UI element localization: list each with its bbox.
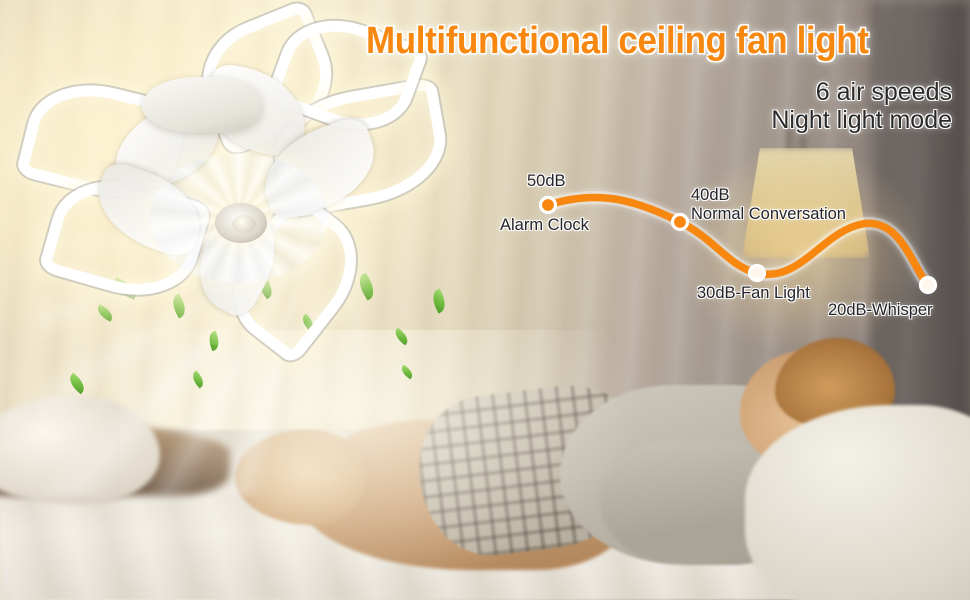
page-title: Multifunctional ceiling fan light [366, 20, 869, 63]
chart-label-caption-alarm-clock: Alarm Clock [500, 216, 589, 235]
product-marketing-image: Multifunctional ceiling fan light 6 air … [0, 0, 970, 600]
subtitle-line-1: 6 air speeds [816, 78, 952, 107]
ceiling-fan-light-fixture [10, 25, 430, 310]
chart-label-caption-fan-light: 30dB-Fan Light [697, 284, 810, 303]
fan-hub-cap [232, 215, 256, 233]
chart-label-caption-whisper: 20dB-Whisper [828, 301, 933, 320]
chart-label-value-alarm-clock: 50dB [527, 172, 566, 191]
subtitle-line-2: Night light mode [771, 106, 952, 135]
chart-label-caption-normal-conversation: Normal Conversation [691, 205, 846, 224]
chart-label-value-normal-conversation: 40dB [691, 186, 730, 205]
fixture-canopy [142, 77, 262, 133]
